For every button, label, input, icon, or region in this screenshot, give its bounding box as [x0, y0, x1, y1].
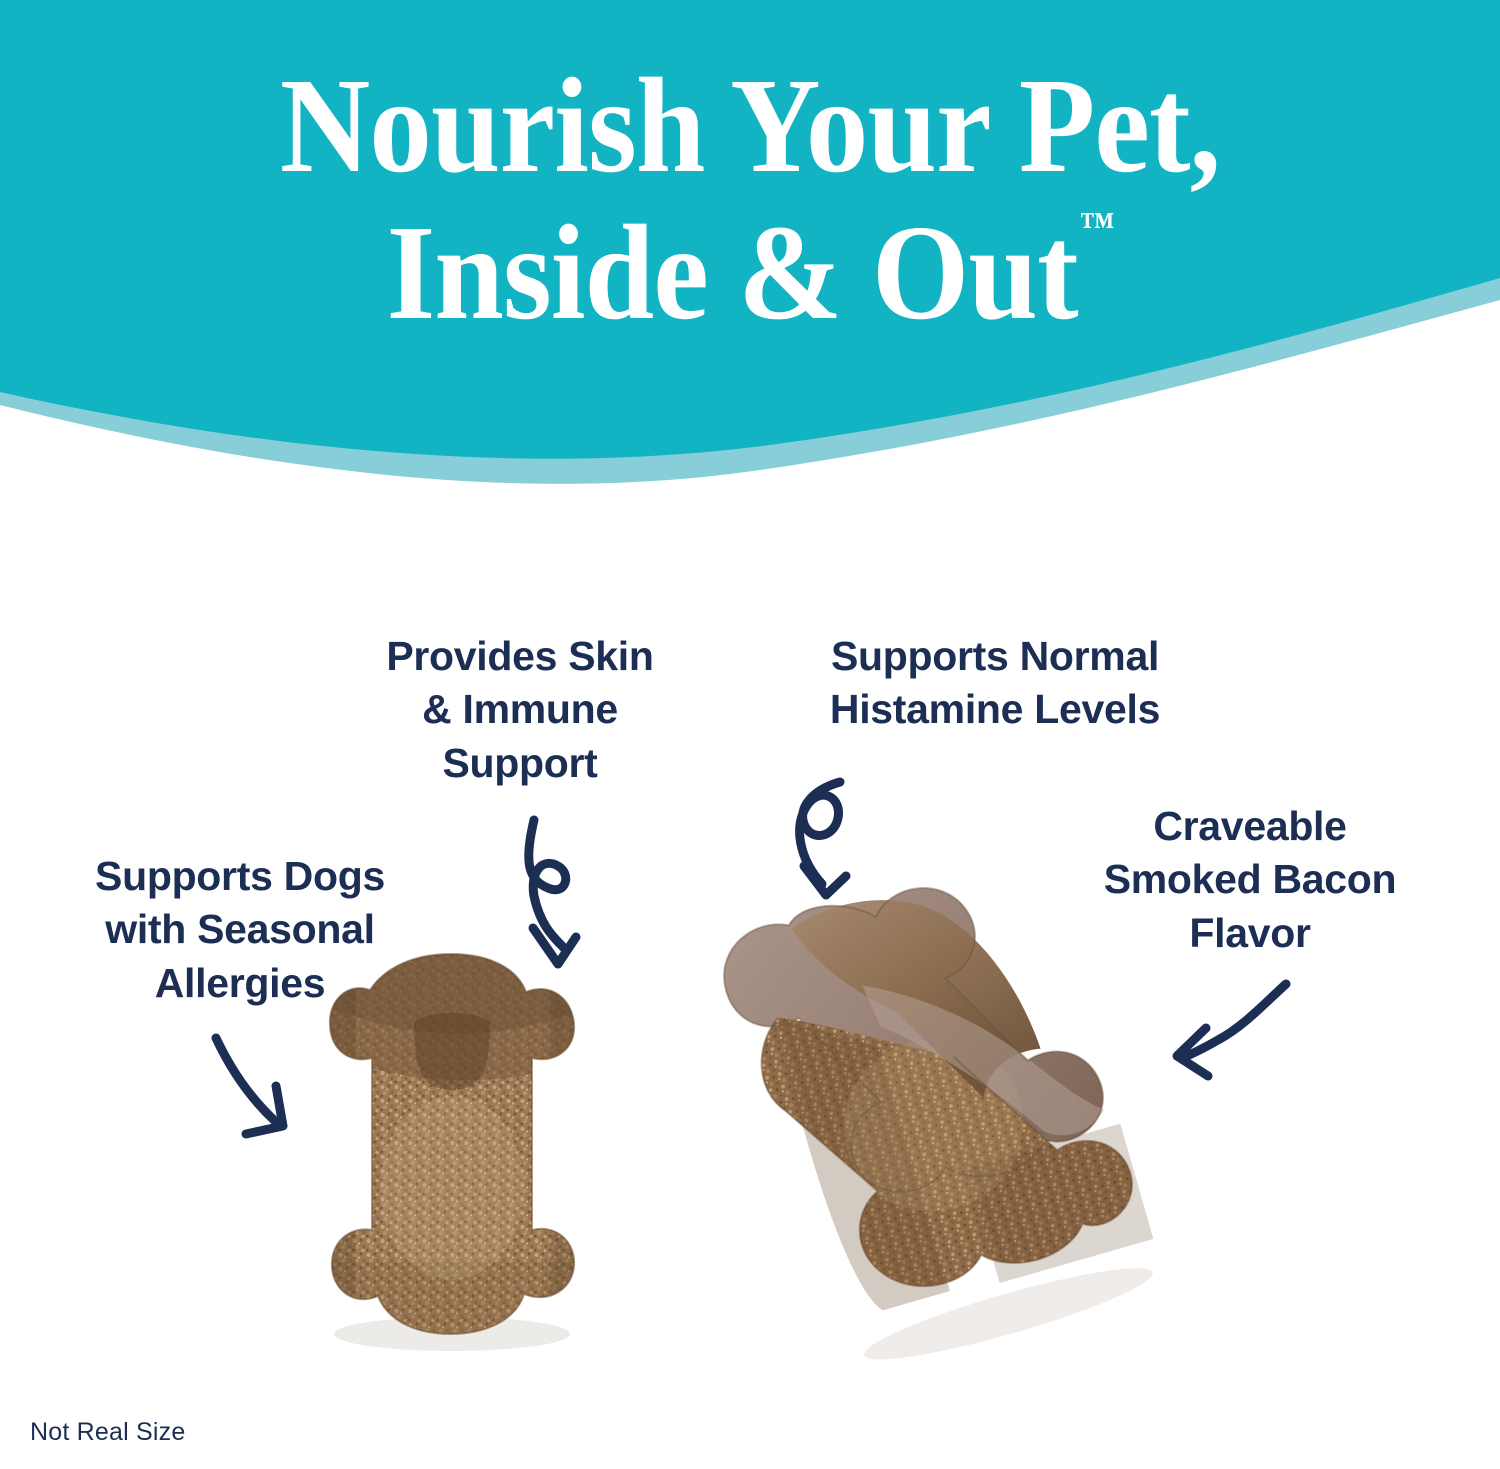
wave-main-shape: [0, 0, 1500, 459]
infographic-page: Nourish Your Pet, Inside & Out™ Provides…: [0, 0, 1500, 1469]
callout-craveable-line-1: Craveable: [1030, 800, 1470, 853]
callout-skin-immune-line-2: & Immune: [300, 683, 740, 736]
callout-skin-immune: Provides Skin & Immune Support: [300, 630, 740, 790]
not-real-size-disclaimer: Not Real Size: [30, 1418, 185, 1447]
callout-histamine-line-1: Supports Normal: [760, 630, 1230, 683]
callout-craveable: Craveable Smoked Bacon Flavor: [1030, 800, 1470, 960]
callout-seasonal-line-2: with Seasonal: [30, 903, 450, 956]
header-wave-background: [0, 0, 1500, 500]
callout-histamine-line-2: Histamine Levels: [760, 683, 1230, 736]
callout-craveable-line-2: Smoked Bacon: [1030, 853, 1470, 906]
callout-skin-immune-line-3: Support: [300, 737, 740, 790]
callout-seasonal: Supports Dogs with Seasonal Allergies: [30, 850, 450, 1010]
callout-skin-immune-line-1: Provides Skin: [300, 630, 740, 683]
arrow-seasonal-icon: [216, 1038, 283, 1134]
header-banner: Nourish Your Pet, Inside & Out™: [0, 0, 1500, 500]
callout-craveable-line-3: Flavor: [1030, 907, 1470, 960]
callout-seasonal-line-1: Supports Dogs: [30, 850, 450, 903]
callout-seasonal-line-3: Allergies: [30, 957, 450, 1010]
callout-histamine: Supports Normal Histamine Levels: [760, 630, 1230, 737]
